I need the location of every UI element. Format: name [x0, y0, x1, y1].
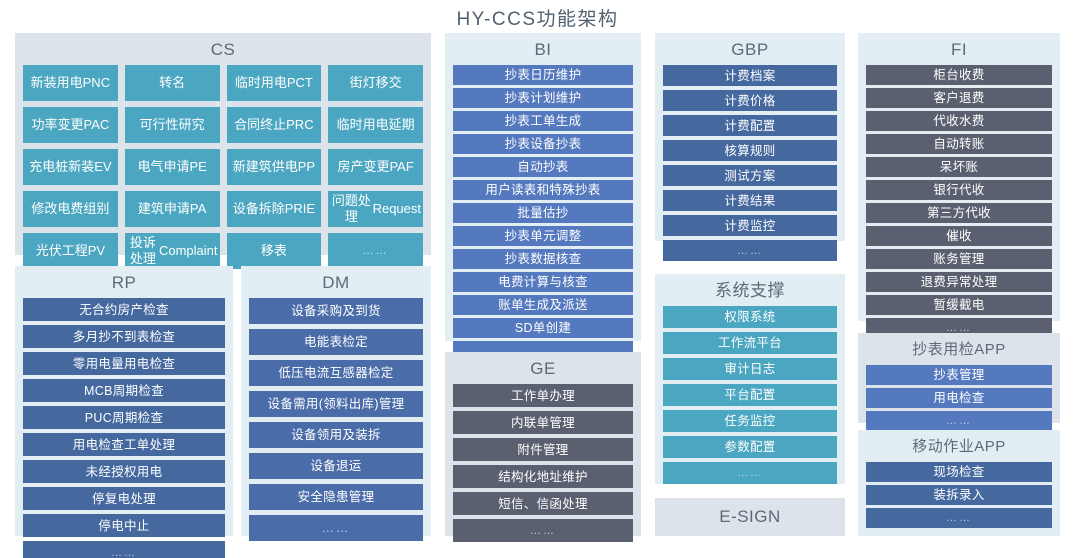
system-support-item[interactable]: 审计日志	[663, 358, 837, 380]
cs-cell-more[interactable]: ……	[328, 233, 423, 269]
gbp-list: 计费档案计费价格计费配置核算规则测试方案计费结果计费监控……	[663, 65, 837, 261]
bi-item[interactable]: 用户读表和特殊抄表	[453, 180, 633, 200]
fi-item[interactable]: 柜台收费	[866, 65, 1052, 85]
mobile-work-app-list: 现场检查装拆录入……	[866, 462, 1052, 528]
gbp-item-more[interactable]: ……	[663, 240, 837, 261]
dm-item[interactable]: 设备采购及到货	[249, 298, 423, 324]
panel-gbp: GBP 计费档案计费价格计费配置核算规则测试方案计费结果计费监控……	[655, 33, 845, 241]
panel-fi: FI 柜台收费客户退费代收水费自动转账呆坏账银行代收第三方代收催收账务管理退费异…	[858, 33, 1060, 321]
meter-inspection-app-item-more[interactable]: ……	[866, 411, 1052, 431]
gbp-item[interactable]: 计费档案	[663, 65, 837, 86]
dm-list: 设备采购及到货电能表检定低压电流互感器检定设备需用(领料出库)管理设备领用及装拆…	[249, 298, 423, 541]
cs-cell[interactable]: 房产变更PAF	[328, 149, 423, 185]
gbp-item[interactable]: 计费结果	[663, 190, 837, 211]
fi-item[interactable]: 呆坏账	[866, 157, 1052, 177]
cs-cell[interactable]: 临时用电延期	[328, 107, 423, 143]
panel-mobile-work-app-title: 移动作业APP	[866, 436, 1052, 462]
cs-cell[interactable]: 光伏工程PV	[23, 233, 118, 269]
cs-cell[interactable]: 投诉处理Complaint	[125, 233, 220, 269]
cs-cell[interactable]: 建筑申请PA	[125, 191, 220, 227]
rp-item-more[interactable]: ……	[23, 541, 225, 558]
ge-item[interactable]: 附件管理	[453, 438, 633, 461]
bi-item[interactable]: 自动抄表	[453, 157, 633, 177]
rp-item[interactable]: MCB周期检查	[23, 379, 225, 402]
cs-grid: 新装用电PNC转名临时用电PCT街灯移交功率变更PAC可行性研究合同终止PRC临…	[23, 65, 423, 269]
fi-item[interactable]: 代收水费	[866, 111, 1052, 131]
panel-system-support: 系统支撑 权限系统工作流平台审计日志平台配置任务监控参数配置……	[655, 274, 845, 484]
bi-item[interactable]: 抄表计划维护	[453, 88, 633, 108]
cs-cell[interactable]: 功率变更PAC	[23, 107, 118, 143]
panel-cs-title: CS	[23, 39, 423, 65]
panel-esign: E-SIGN	[655, 498, 845, 536]
panel-ge-title: GE	[453, 358, 633, 384]
rp-item[interactable]: 用电检查工单处理	[23, 433, 225, 456]
cs-cell[interactable]: 修改电费组别	[23, 191, 118, 227]
cs-cell[interactable]: 电气申请PE	[125, 149, 220, 185]
bi-item[interactable]: 抄表设备抄表	[453, 134, 633, 154]
rp-item[interactable]: 无合约房产检查	[23, 298, 225, 321]
fi-item[interactable]: 账务管理	[866, 249, 1052, 269]
dm-item[interactable]: 低压电流互感器检定	[249, 360, 423, 386]
panel-mobile-work-app: 移动作业APP 现场检查装拆录入……	[858, 430, 1060, 536]
cs-cell[interactable]: 合同终止PRC	[227, 107, 322, 143]
page-title: HY-CCS功能架构	[0, 4, 1075, 31]
panel-cs: CS 新装用电PNC转名临时用电PCT街灯移交功率变更PAC可行性研究合同终止P…	[15, 33, 431, 255]
fi-item[interactable]: 第三方代收	[866, 203, 1052, 223]
fi-list: 柜台收费客户退费代收水费自动转账呆坏账银行代收第三方代收催收账务管理退费异常处理…	[866, 65, 1052, 338]
fi-item[interactable]: 退费异常处理	[866, 272, 1052, 292]
dm-item[interactable]: 设备领用及装拆	[249, 422, 423, 448]
system-support-item-more[interactable]: ……	[663, 462, 837, 484]
rp-item[interactable]: 零用电量用电检查	[23, 352, 225, 375]
panel-dm-title: DM	[249, 272, 423, 298]
gbp-item[interactable]: 测试方案	[663, 165, 837, 186]
cs-cell[interactable]: 移表	[227, 233, 322, 269]
panel-esign-title: E-SIGN	[719, 506, 781, 528]
dm-item[interactable]: 电能表检定	[249, 329, 423, 355]
fi-item[interactable]: 银行代收	[866, 180, 1052, 200]
mobile-work-app-item[interactable]: 现场检查	[866, 462, 1052, 482]
panel-gbp-title: GBP	[663, 39, 837, 65]
bi-item[interactable]: 抄表单元调整	[453, 226, 633, 246]
cs-cell[interactable]: 新装用电PNC	[23, 65, 118, 101]
bi-item[interactable]: 账单生成及派送	[453, 295, 633, 315]
fi-item[interactable]: 暂缓截电	[866, 295, 1052, 315]
meter-inspection-app-list: 抄表管理用电检查……	[866, 365, 1052, 431]
bi-item[interactable]: 抄表工单生成	[453, 111, 633, 131]
ge-item[interactable]: 结构化地址维护	[453, 465, 633, 488]
ge-list: 工作单办理内联单管理附件管理结构化地址维护短信、信函处理……	[453, 384, 633, 542]
gbp-item[interactable]: 核算规则	[663, 140, 837, 161]
cs-cell[interactable]: 新建筑供电PP	[227, 149, 322, 185]
panel-meter-inspection-app-title: 抄表用检APP	[866, 339, 1052, 365]
panel-fi-title: FI	[866, 39, 1052, 65]
system-support-item[interactable]: 参数配置	[663, 436, 837, 458]
meter-inspection-app-item[interactable]: 用电检查	[866, 388, 1052, 408]
rp-list: 无合约房产检查多月抄不到表检查零用电量用电检查MCB周期检查PUC周期检查用电检…	[23, 298, 225, 558]
bi-item[interactable]: 抄表数据核查	[453, 249, 633, 269]
fi-item[interactable]: 催收	[866, 226, 1052, 246]
cs-cell[interactable]: 问题处理Request	[328, 191, 423, 227]
system-support-item[interactable]: 平台配置	[663, 384, 837, 406]
rp-item[interactable]: 停复电处理	[23, 487, 225, 510]
cs-cell[interactable]: 设备拆除PRIE	[227, 191, 322, 227]
bi-item[interactable]: 批量估抄	[453, 203, 633, 223]
gbp-item[interactable]: 计费配置	[663, 115, 837, 136]
mobile-work-app-item[interactable]: 装拆录入	[866, 485, 1052, 505]
cs-cell[interactable]: 可行性研究	[125, 107, 220, 143]
dm-item-more[interactable]: ……	[249, 515, 423, 541]
rp-item[interactable]: 多月抄不到表检查	[23, 325, 225, 348]
ge-item-more[interactable]: ……	[453, 519, 633, 542]
ge-item[interactable]: 工作单办理	[453, 384, 633, 407]
cs-cell[interactable]: 临时用电PCT	[227, 65, 322, 101]
mobile-work-app-item-more[interactable]: ……	[866, 508, 1052, 528]
meter-inspection-app-item[interactable]: 抄表管理	[866, 365, 1052, 385]
system-support-item[interactable]: 任务监控	[663, 410, 837, 432]
panel-ge: GE 工作单办理内联单管理附件管理结构化地址维护短信、信函处理……	[445, 352, 641, 536]
panel-bi-title: BI	[453, 39, 633, 65]
cs-cell[interactable]: 转名	[125, 65, 220, 101]
bi-item[interactable]: SD单创建	[453, 318, 633, 338]
dm-item[interactable]: 安全隐患管理	[249, 484, 423, 510]
gbp-item[interactable]: 计费价格	[663, 90, 837, 111]
bi-list: 抄表日历维护抄表计划维护抄表工单生成抄表设备抄表自动抄表用户读表和特殊抄表批量估…	[453, 65, 633, 361]
system-support-item[interactable]: 权限系统	[663, 306, 837, 328]
rp-item[interactable]: 未经授权用电	[23, 460, 225, 483]
cs-cell[interactable]: 充电桩新装EV	[23, 149, 118, 185]
system-support-item[interactable]: 工作流平台	[663, 332, 837, 354]
system-support-list: 权限系统工作流平台审计日志平台配置任务监控参数配置……	[663, 306, 837, 484]
cs-cell[interactable]: 街灯移交	[328, 65, 423, 101]
ge-item[interactable]: 短信、信函处理	[453, 492, 633, 515]
panel-bi: BI 抄表日历维护抄表计划维护抄表工单生成抄表设备抄表自动抄表用户读表和特殊抄表…	[445, 33, 641, 341]
bi-item[interactable]: 抄表日历维护	[453, 65, 633, 85]
rp-item[interactable]: 停电中止	[23, 514, 225, 537]
fi-item[interactable]: 自动转账	[866, 134, 1052, 154]
panel-rp-title: RP	[23, 272, 225, 298]
gbp-item[interactable]: 计费监控	[663, 215, 837, 236]
bi-item[interactable]: 电费计算与核查	[453, 272, 633, 292]
fi-item[interactable]: 客户退费	[866, 88, 1052, 108]
panel-rp: RP 无合约房产检查多月抄不到表检查零用电量用电检查MCB周期检查PUC周期检查…	[15, 266, 233, 536]
rp-item[interactable]: PUC周期检查	[23, 406, 225, 429]
panel-meter-inspection-app: 抄表用检APP 抄表管理用电检查……	[858, 333, 1060, 423]
dm-item[interactable]: 设备需用(领料出库)管理	[249, 391, 423, 417]
panel-dm: DM 设备采购及到货电能表检定低压电流互感器检定设备需用(领料出库)管理设备领用…	[241, 266, 431, 536]
dm-item[interactable]: 设备退运	[249, 453, 423, 479]
panel-system-support-title: 系统支撑	[663, 280, 837, 306]
architecture-diagram: HY-CCS功能架构 CS 新装用电PNC转名临时用电PCT街灯移交功率变更PA…	[0, 0, 1075, 558]
ge-item[interactable]: 内联单管理	[453, 411, 633, 434]
